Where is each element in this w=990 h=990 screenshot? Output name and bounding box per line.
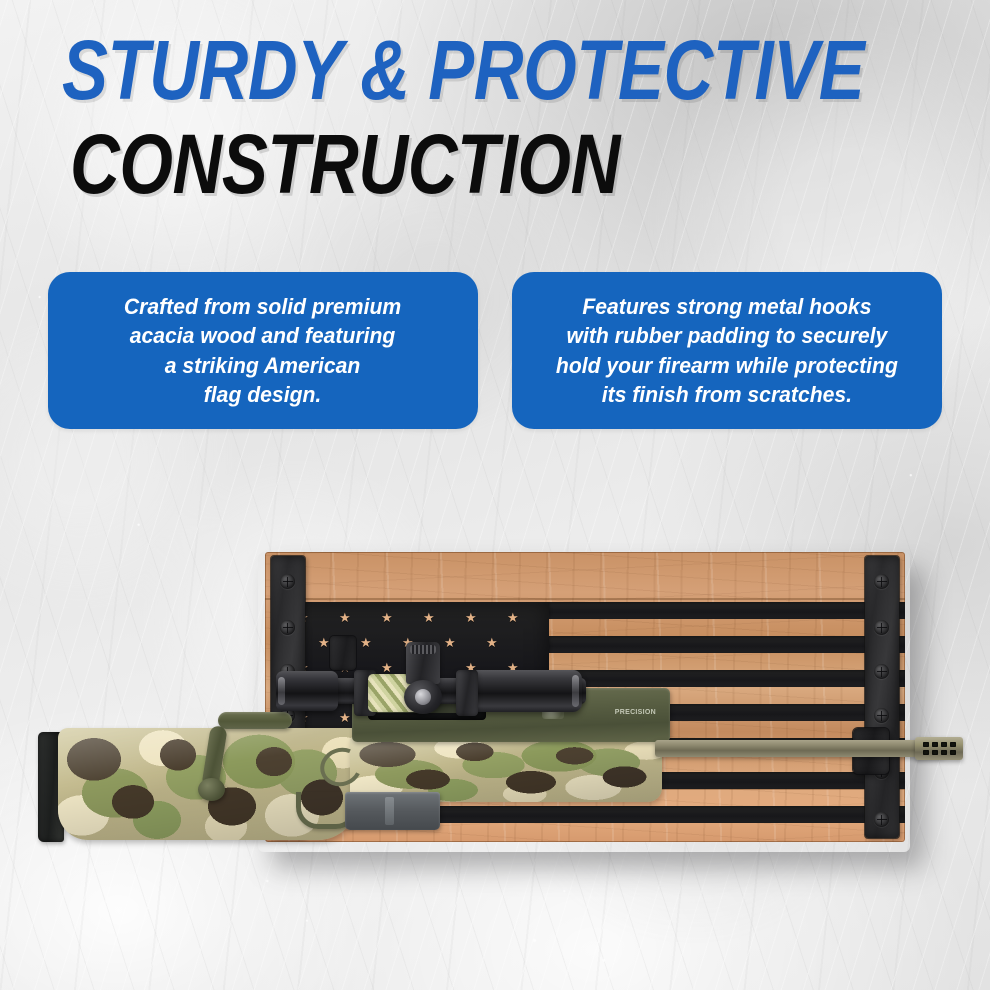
bolt-body bbox=[218, 712, 292, 729]
scope-objective bbox=[472, 670, 582, 712]
scope-ring-front bbox=[456, 670, 478, 716]
muzzle-port bbox=[950, 742, 956, 747]
scope-eyepiece bbox=[276, 671, 338, 711]
feature-callout-right: Features strong metal hookswith rubber p… bbox=[512, 272, 942, 429]
magazine-well bbox=[345, 792, 440, 830]
scope-windage-turret bbox=[404, 680, 442, 714]
product-photo: ★ ★ ★ ★ ★ ★ ★ ★ ★ ★ ★ ★ ★ ★ ★ ★ ★ ★ ★ ★ bbox=[0, 500, 990, 920]
muzzle-port bbox=[941, 742, 947, 747]
muzzle-port bbox=[950, 750, 956, 755]
muzzle-port bbox=[932, 742, 938, 747]
headline-line-1: STURDY & PROTECTIVE bbox=[62, 30, 864, 111]
feature-callout-right-text: Features strong metal hookswith rubber p… bbox=[556, 292, 898, 409]
feature-callout-left: Crafted from solid premiumacacia wood an… bbox=[48, 272, 478, 429]
receiver-label: PRECISION bbox=[615, 709, 656, 716]
bolt-knob bbox=[198, 778, 225, 801]
rifle: PRECISION bbox=[0, 500, 990, 920]
feature-callout-left-text: Crafted from solid premiumacacia wood an… bbox=[124, 292, 401, 409]
muzzle-port bbox=[923, 750, 929, 755]
promo-graphic: STURDY & PROTECTIVE CONSTRUCTION Crafted… bbox=[0, 0, 990, 990]
scope-elevation-turret bbox=[406, 642, 440, 684]
muzzle-port bbox=[941, 750, 947, 755]
rifle-barrel bbox=[655, 740, 945, 757]
muzzle-brake bbox=[915, 737, 963, 760]
headline-line-2: CONSTRUCTION bbox=[70, 124, 620, 205]
muzzle-port bbox=[932, 750, 938, 755]
muzzle-port bbox=[923, 742, 929, 747]
